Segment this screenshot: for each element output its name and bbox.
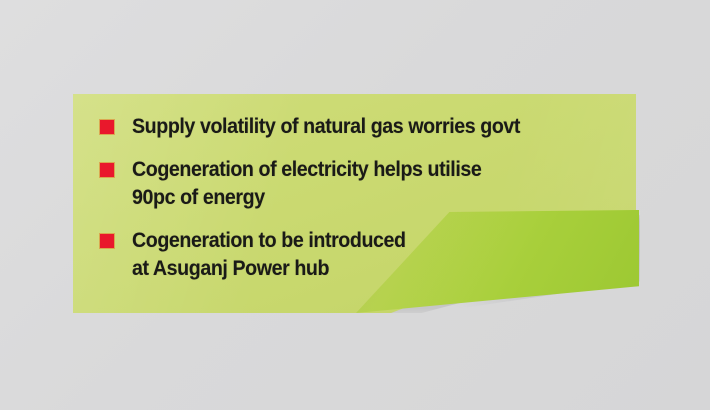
red-square-bullet-icon [100,120,114,134]
list-item-label: Cogeneration of electricity helps utilis… [132,156,481,212]
list-item-label: Cogeneration to be introduced at Asuganj… [132,227,406,283]
page-background: Supply volatility of natural gas worries… [0,0,710,410]
highlights-note: Supply volatility of natural gas worries… [73,94,636,313]
red-square-bullet-icon [100,234,114,248]
list-item: Supply volatility of natural gas worries… [100,113,620,141]
list-item-label: Supply volatility of natural gas worries… [132,113,520,141]
bullet-list: Supply volatility of natural gas worries… [100,113,620,283]
list-item: Cogeneration of electricity helps utilis… [100,156,620,212]
list-item: Cogeneration to be introduced at Asuganj… [100,227,620,283]
red-square-bullet-icon [100,163,114,177]
